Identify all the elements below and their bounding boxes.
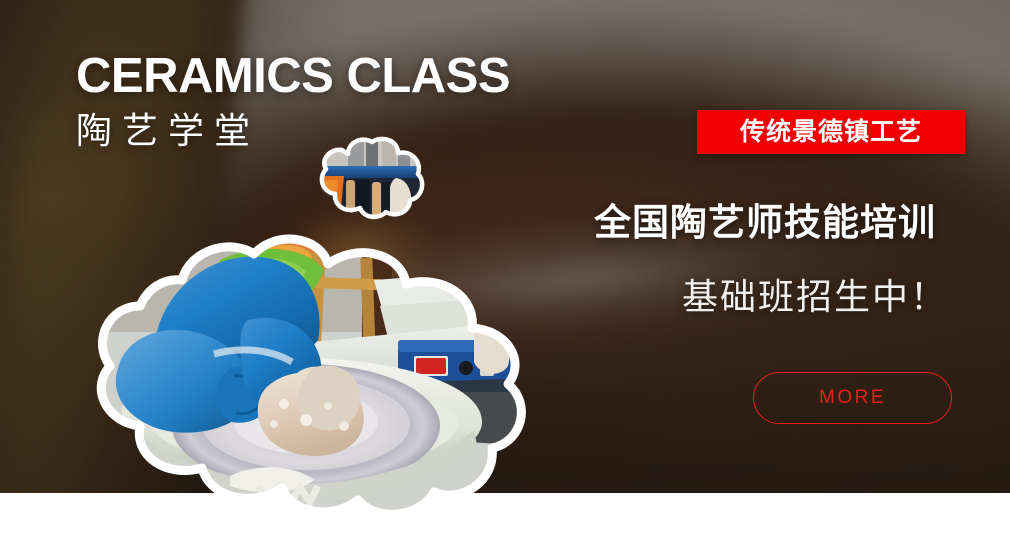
more-button[interactable]: MORE: [753, 372, 952, 424]
headline-chinese: 陶艺学堂: [76, 111, 510, 151]
headline-english: CERAMICS CLASS: [76, 52, 510, 102]
headline-block: CERAMICS CLASS 陶艺学堂: [76, 52, 510, 151]
ceramics-class-banner: CERAMICS CLASS 陶艺学堂: [0, 0, 1010, 538]
promo-text-column: 传统景德镇工艺 全国陶艺师技能培训 基础班招生中！: [560, 110, 970, 320]
cloud-photo-small: [318, 136, 426, 218]
cloud-photo-large: [62, 236, 534, 514]
subhead-line-2: 基础班招生中！: [682, 268, 970, 320]
cloud-small-svg: [318, 136, 426, 218]
cloud-large-svg: [62, 236, 534, 514]
status-badge: 传统景德镇工艺: [697, 110, 965, 154]
subhead-line-1: 全国陶艺师技能培训: [560, 192, 970, 246]
